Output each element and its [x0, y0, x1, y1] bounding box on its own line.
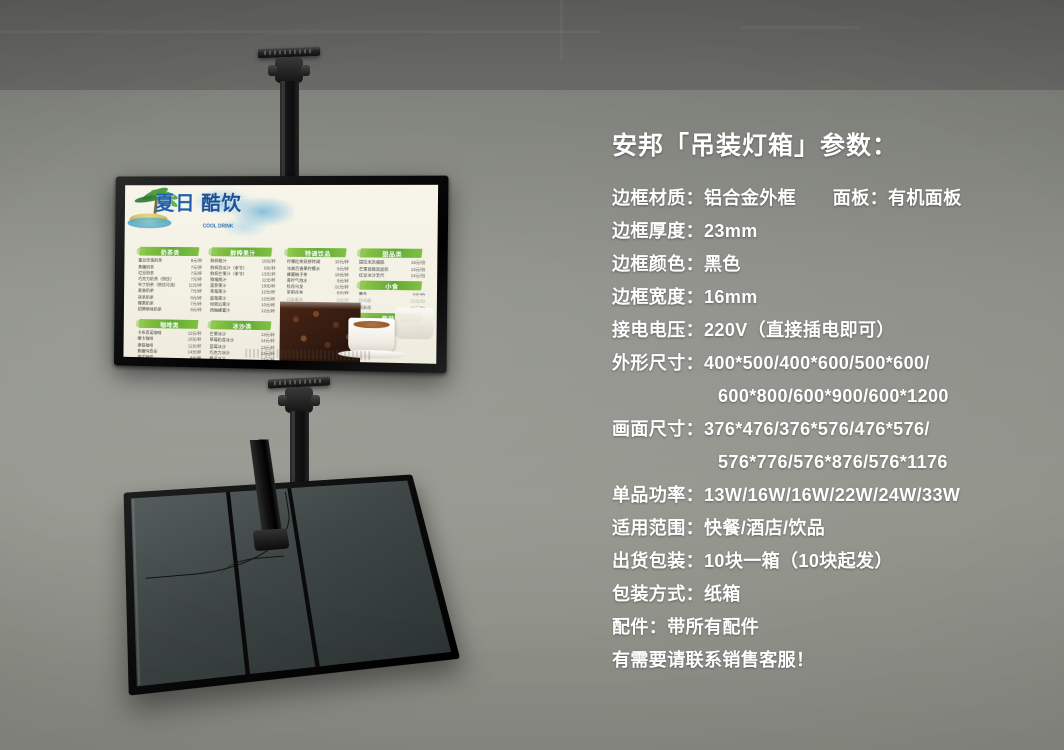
menu-item-price: 9元/杯 — [187, 307, 201, 313]
rear-panel-seam — [288, 488, 320, 667]
specification-line: 边框宽度：16mm — [612, 281, 1056, 314]
specification-line: 包装方式：纸箱 — [612, 578, 1056, 611]
menu-section-header-label: 特调饮品 — [285, 249, 351, 259]
lightbox-rear-panel — [124, 474, 461, 695]
specification-line: 单品功率：13W/16W/16W/22W/24W/33W — [612, 479, 1056, 512]
menu-item-name: 招牌原味奶茶 — [138, 306, 162, 312]
ceiling-mount-bracket-top — [258, 48, 320, 178]
mount-pole-highlight — [282, 81, 285, 177]
menu-section-header-label: 奶茶类 — [136, 248, 204, 257]
menu-section-header-label: 甜品类 — [357, 249, 428, 259]
menu-column: 奶茶类蜜豆珍珠奶茶8元/杯焦糖奶茶7元/杯红豆奶茶7元/杯巧克力奶茶（热饮）7元… — [135, 247, 204, 355]
menu-artwork: 夏日酷饮 COOL DRINK 奶茶类蜜豆珍珠奶茶8元/杯焦糖奶茶7元/杯红豆奶… — [123, 185, 438, 364]
ceiling-panel-line — [560, 0, 563, 60]
ceiling-panel-line — [0, 30, 600, 33]
menu-item-name: 西柚蜂蜜汁 — [210, 307, 230, 313]
menu-item-list: 芒果冰沙13元/杯草莓奶昔冰沙14元/杯蓝莓冰沙13元/杯巧克力冰沙12元/杯椰… — [207, 331, 276, 363]
mount-plate-holes — [274, 379, 324, 386]
menu-section: 鲜榨果汁鲜榨橙汁10元/杯鲜榨西瓜汁（季节）9元/杯鲜榨芒果汁（季节）13元/杯… — [208, 248, 278, 315]
specification-line: 画面尺寸：376*476/376*576/476*576/ — [612, 413, 1056, 446]
mount-pivot-joint — [275, 57, 303, 83]
mount-plate-holes — [264, 49, 314, 55]
specification-line: 出货包装：10块一箱（10块起发） — [612, 545, 1056, 578]
menu-headline-subtitle: COOL DRINK — [203, 224, 234, 230]
menu-section-header-label: 鲜榨果汁 — [209, 248, 278, 257]
menu-hero-banner: 夏日酷饮 COOL DRINK — [125, 185, 298, 248]
menu-item-list: 提拉米苏蛋糕15元/份芒果班戟双皮奶12元/份红豆冰沙圣代14元/份 — [357, 260, 428, 280]
menu-section-header: 小食 — [357, 281, 428, 291]
specification-line: 600*800/600*900/600*1200 — [612, 380, 1056, 413]
menu-section-header: 奶茶类 — [136, 247, 204, 256]
menu-section: 甜品类提拉米苏蛋糕15元/份芒果班戟双皮奶12元/份红豆冰沙圣代14元/份 — [357, 249, 428, 280]
menu-section-header-label: 小食 — [357, 281, 428, 291]
menu-section-header: 甜品类 — [357, 249, 428, 259]
specification-title: 安邦「吊装灯箱」参数： — [612, 126, 1056, 162]
rear-mount-clamp — [253, 528, 290, 551]
menu-item-row: 西柚蜂蜜汁12元/杯 — [208, 307, 277, 314]
menu-item-list: 卡布奇诺咖啡12元/杯摩卡咖啡10元/杯拿铁咖啡11元/杯焦糖玛奇朵14元/杯美… — [135, 330, 203, 362]
ceiling-panel-line — [740, 26, 860, 29]
menu-section: 咖啡类卡布奇诺咖啡12元/杯摩卡咖啡10元/杯拿铁咖啡11元/杯焦糖玛奇朵14元… — [135, 319, 203, 362]
specification-line: 边框颜色：黑色 — [612, 248, 1056, 281]
specification-block: 安邦「吊装灯箱」参数： 边框材质：铝合金外框 面板：有机面板边框厚度：23mm边… — [612, 126, 1056, 677]
menu-item-price: 14元/份 — [408, 273, 426, 279]
menu-section-header-label: 咖啡类 — [136, 320, 204, 330]
specification-line: 576*776/576*876/576*1176 — [612, 446, 1056, 479]
menu-headline-part2: 酷饮 — [201, 194, 242, 214]
menu-item-row: 招牌原味奶茶9元/杯 — [136, 306, 204, 313]
lightbox-screen: 夏日酷饮 COOL DRINK 奶茶类蜜豆珍珠奶茶8元/杯焦糖奶茶7元/杯红豆奶… — [123, 185, 438, 364]
specification-line: 配件：带所有配件 — [612, 611, 1056, 644]
menu-item-name: 红豆冰沙圣代 — [359, 272, 384, 279]
menu-column: 鲜榨果汁鲜榨橙汁10元/杯鲜榨西瓜汁（季节）9元/杯鲜榨芒果汁（季节）13元/杯… — [208, 248, 278, 357]
menu-section: 奶茶类蜜豆珍珠奶茶8元/杯焦糖奶茶7元/杯红豆奶茶7元/杯巧克力奶茶（热饮）7元… — [136, 247, 204, 313]
specification-line: 有需要请联系销售客服！ — [612, 644, 1056, 677]
menu-section-header: 冰沙类 — [208, 320, 277, 330]
specification-line: 适用范围：快餐/酒店/饮品 — [612, 512, 1056, 545]
menu-item-list: 蜜豆珍珠奶茶8元/杯焦糖奶茶7元/杯红豆奶茶7元/杯巧克力奶茶（热饮）7元/杯布… — [136, 258, 204, 314]
specification-lines: 边框材质：铝合金外框 面板：有机面板边框厚度：23mm边框颜色：黑色边框宽度：1… — [612, 182, 1056, 677]
specification-line: 接电电压：220V（直接插电即可） — [612, 314, 1056, 347]
menu-section-header-label: 冰沙类 — [208, 321, 277, 331]
menu-section-header: 鲜榨果汁 — [209, 248, 278, 257]
menu-item-row: 红豆冰沙圣代14元/份 — [357, 272, 428, 279]
product-photo-stage: 夏日酷饮 COOL DRINK 奶茶类蜜豆珍珠奶茶8元/杯焦糖奶茶7元/杯红豆奶… — [0, 0, 1064, 750]
menu-item-price: 12元/杯 — [258, 308, 275, 314]
specification-line: 边框材质：铝合金外框 面板：有机面板 — [612, 182, 1056, 215]
mount-pivot-joint — [285, 387, 313, 413]
menu-item-list: 鲜榨橙汁10元/杯鲜榨西瓜汁（季节）9元/杯鲜榨芒果汁（季节）13元/杯猕猴桃汁… — [208, 258, 278, 314]
mount-pole — [280, 81, 299, 177]
rear-panel-surface — [131, 481, 451, 687]
menu-section-header: 咖啡类 — [136, 319, 204, 329]
menu-section-header: 特调饮品 — [285, 248, 351, 258]
hanging-lightbox-display: 夏日酷饮 COOL DRINK 奶茶类蜜豆珍珠奶茶8元/杯焦糖奶茶7元/杯红豆奶… — [114, 176, 449, 374]
menu-headline-part1: 夏日 — [155, 193, 195, 215]
specification-line: 边框厚度：23mm — [612, 215, 1056, 248]
ceiling-background — [0, 0, 1064, 96]
specification-line: 外形尺寸：400*500/400*600/500*600/ — [612, 347, 1056, 380]
